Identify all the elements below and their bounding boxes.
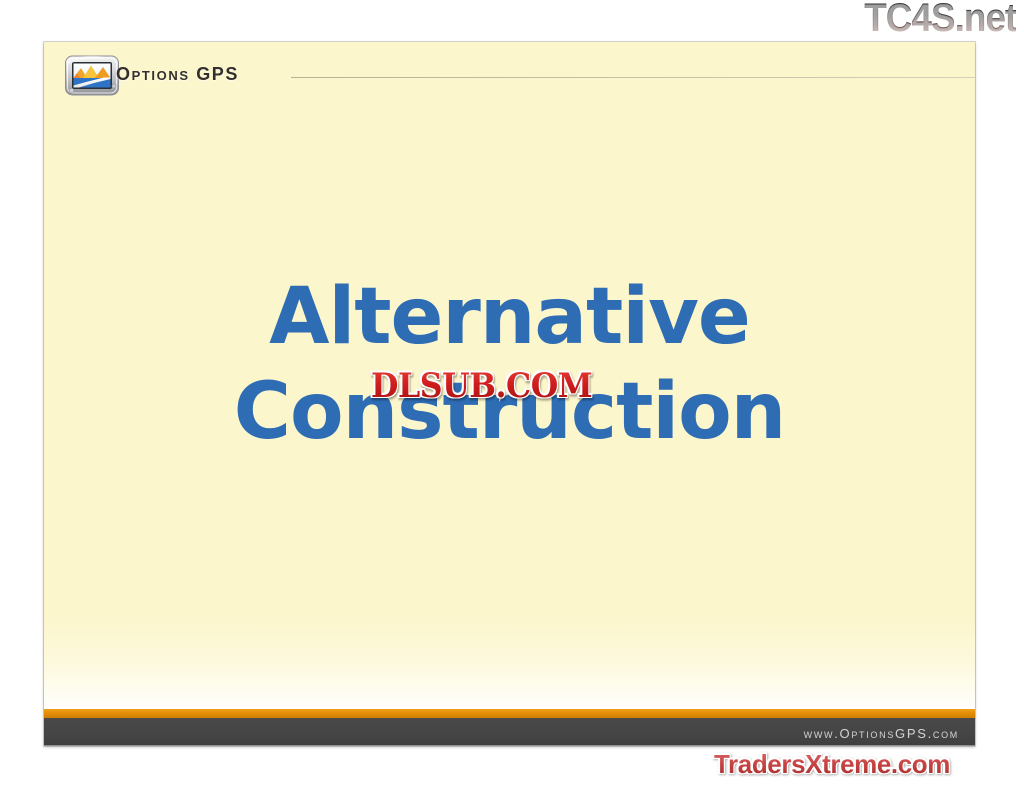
dlsub-site-watermark: DLSUB.COM [371,369,592,403]
header-divider [291,77,975,78]
footer-accent-bar [44,709,975,718]
slide-footer: www.OptionsGPS.com [44,718,975,746]
gps-device-icon [64,53,120,99]
page-canvas: TC4S.net [0,0,1024,791]
footer-website-url: www.OptionsGPS.com [804,726,959,741]
slide-header: Options GPS [44,42,975,104]
slide-title-line-1: Alternative [82,270,937,365]
brand-wordmark: Options GPS [116,64,239,85]
tradersxtreme-site-watermark: TradersXtreme.com [714,751,950,777]
tc4s-site-watermark: TC4S.net [864,0,1016,38]
